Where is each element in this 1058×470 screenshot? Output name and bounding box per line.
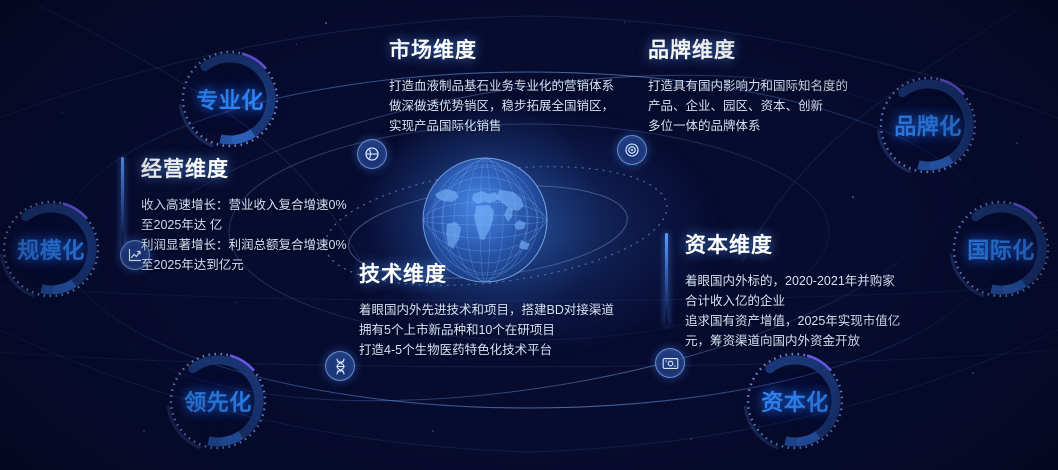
block-title: 技术维度 [359, 258, 614, 288]
badge-scale[interactable]: 规模化 [0, 196, 104, 302]
block-line: 实现产品国际化销售 [389, 116, 614, 136]
dna-icon[interactable] [325, 351, 355, 381]
block-line: 至2025年达到亿元 [141, 255, 347, 275]
block-technology: 技术维度 着眼国内外先进技术和项目，搭建BD对接渠道 拥有5个上市新品种和10个… [359, 258, 614, 360]
banknote-icon[interactable] [655, 348, 685, 378]
badge-capitalization[interactable]: 资本化 [742, 348, 848, 454]
badge-international[interactable]: 国际化 [948, 196, 1054, 302]
globe-network-icon[interactable] [357, 139, 387, 169]
block-line: 着眼国内外先进技术和项目，搭建BD对接渠道 [359, 300, 614, 320]
infographic-canvas: 专业化 品牌化 规模化 国际化 [0, 0, 1058, 470]
block-lines: 着眼国内外标的，2020-2021年并购家 合计收入亿的企业 追求国有资产增值，… [685, 271, 900, 351]
accent-bar [665, 233, 668, 325]
block-line: 产品、企业、园区、资本、创新 [648, 96, 848, 116]
block-line: 着眼国内外标的，2020-2021年并购家 [685, 271, 900, 291]
block-line: 多位一体的品牌体系 [648, 116, 848, 136]
block-market: 市场维度 打造血液制品基石业务专业化的营销体系 做深做透优势销区，稳步拓展全国销… [389, 34, 614, 136]
badge-label: 规模化 [0, 196, 104, 302]
target-icon[interactable] [617, 135, 647, 165]
block-line: 打造血液制品基石业务专业化的营销体系 [389, 76, 614, 96]
badge-leading[interactable]: 领先化 [165, 348, 271, 454]
block-line: 打造具有国内影响力和国际知名度的 [648, 76, 848, 96]
block-title: 品牌维度 [648, 34, 848, 64]
block-brand: 品牌维度 打造具有国内影响力和国际知名度的 产品、企业、园区、资本、创新 多位一… [648, 34, 848, 136]
block-lines: 打造血液制品基石业务专业化的营销体系 做深做透优势销区，稳步拓展全国销区， 实现… [389, 76, 614, 136]
block-line: 追求国有资产增值，2025年实现市值亿 [685, 311, 900, 331]
block-line: 元，筹资渠道向国内外资金开放 [685, 331, 900, 351]
block-title: 经营维度 [141, 153, 347, 183]
block-lines: 打造具有国内影响力和国际知名度的 产品、企业、园区、资本、创新 多位一体的品牌体… [648, 76, 848, 136]
block-line: 至2025年达 亿 [141, 215, 347, 235]
block-operation: 经营维度 收入高速增长：营业收入复合增速0% 至2025年达 亿 利润显著增长：… [121, 153, 347, 275]
block-lines: 收入高速增长：营业收入复合增速0% 至2025年达 亿 利润显著增长：利润总额复… [141, 195, 347, 275]
badge-brandization[interactable]: 品牌化 [875, 72, 981, 178]
block-title: 资本维度 [685, 229, 900, 259]
block-line: 收入高速增长：营业收入复合增速0% [141, 195, 347, 215]
block-line: 合计收入亿的企业 [685, 291, 900, 311]
badge-label: 品牌化 [875, 72, 981, 178]
block-line: 打造4-5个生物医药特色化技术平台 [359, 340, 614, 360]
block-line: 利润显著增长：利润总额复合增速0% [141, 235, 347, 255]
accent-bar [121, 157, 124, 249]
badge-label: 资本化 [742, 348, 848, 454]
block-line: 做深做透优势销区，稳步拓展全国销区， [389, 96, 614, 116]
block-capital: 资本维度 着眼国内外标的，2020-2021年并购家 合计收入亿的企业 追求国有… [665, 229, 900, 351]
badge-label: 国际化 [948, 196, 1054, 302]
badge-professional[interactable]: 专业化 [177, 46, 283, 152]
badge-label: 专业化 [177, 46, 283, 152]
block-title: 市场维度 [389, 34, 614, 64]
badge-label: 领先化 [165, 348, 271, 454]
block-line: 拥有5个上市新品种和10个在研项目 [359, 320, 614, 340]
block-lines: 着眼国内外先进技术和项目，搭建BD对接渠道 拥有5个上市新品种和10个在研项目 … [359, 300, 614, 360]
